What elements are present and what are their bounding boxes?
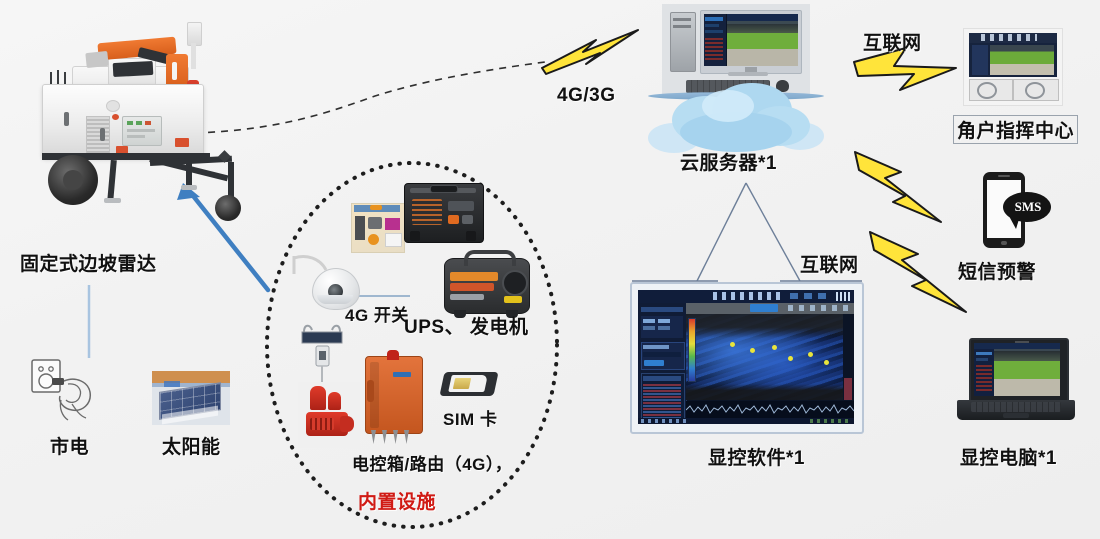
jack-foot: [181, 185, 197, 190]
sms-text: SMS: [1011, 199, 1045, 215]
slope-radar-trailer: [20, 10, 280, 250]
roof-fitting: [106, 100, 120, 112]
pc-tower: [670, 12, 696, 72]
indicator-lamp: [112, 114, 119, 120]
radar-pivot: [113, 61, 154, 77]
jack-leg: [107, 160, 117, 202]
mains-power-icon: [28, 356, 124, 426]
solar-power-label: 太阳能: [162, 432, 221, 459]
ups-generator-label: UPS、 发电机: [404, 312, 528, 339]
radar-unit-label: 固定式边坡雷达: [20, 249, 157, 276]
jack-foot: [104, 198, 121, 203]
box-handle: [367, 380, 374, 402]
cloud-server-label: 云服务器*1: [680, 148, 777, 175]
trackpad: [1003, 413, 1029, 418]
builtin-facilities-label: 内置设施: [358, 487, 436, 514]
handle: [64, 112, 69, 126]
control-panel: [122, 116, 162, 146]
4g-switch-label: 4G 开关: [345, 301, 409, 326]
control-box-router-label: 电控箱/路由（4G），: [352, 450, 512, 475]
radar-head: [85, 51, 108, 68]
vent-grille: [86, 116, 110, 158]
generator-handle: [464, 250, 516, 266]
4g-switch-photo: [351, 203, 405, 253]
generator-icon: [440, 248, 532, 320]
marker-light: [175, 138, 189, 147]
trailer-wheel: [48, 155, 98, 205]
jockey-wheel: [215, 195, 241, 221]
internet-mid-label: 互联网: [800, 250, 859, 277]
handle: [100, 128, 105, 141]
command-center-photo: [963, 28, 1063, 106]
radar-end-slot: [172, 62, 177, 80]
sensor-pole: [191, 43, 196, 69]
lightning-bolt-icon-4g: [538, 22, 648, 82]
internet-top-label: 互联网: [863, 28, 922, 55]
pc-monitor: [700, 10, 802, 74]
sim-card-label: SIM 卡: [443, 405, 497, 430]
ups-unit-icon: [404, 183, 482, 245]
command-center-label: 角户指挥中心: [953, 115, 1078, 144]
diagram-canvas: 固定式边坡雷达 市电 太阳能: [0, 0, 1100, 539]
solar-panel-photo: [152, 371, 230, 425]
jack-leg: [186, 158, 192, 188]
control-computer-laptop: [955, 338, 1077, 426]
link-4g3g-label: 4G/3G: [557, 85, 615, 107]
mains-power-label: 市电: [50, 432, 89, 459]
control-computer-label: 显控电脑*1: [960, 443, 1057, 470]
control-software-label: 显控软件*1: [708, 443, 805, 470]
lightning-bolt-icon-sms: [845, 150, 965, 240]
control-software-monitor: [630, 282, 864, 434]
cloud-icon: [648, 76, 824, 154]
box-button: [387, 350, 399, 360]
control-box-router-icon: [359, 348, 429, 448]
sms-alert-label: 短信预警: [958, 257, 1036, 284]
sms-phone-icon: SMS: [983, 172, 1047, 252]
cloud-server-group: [648, 4, 824, 154]
sim-card-icon: [440, 366, 498, 402]
siren-alarm-icon: [298, 382, 360, 448]
